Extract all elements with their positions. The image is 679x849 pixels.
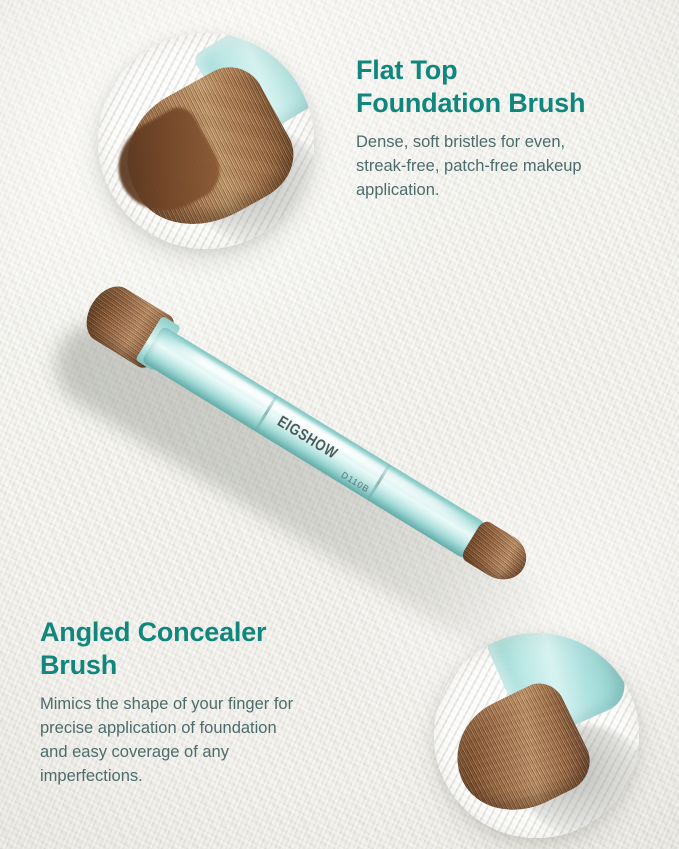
product-feature-canvas: EIGSHOW D110B Flat Top Foundation Brush … [0,0,679,849]
feature-block-flat-top: Flat Top Foundation Brush Dense, soft br… [356,54,656,203]
feature-title-flat-top: Flat Top Foundation Brush [356,54,656,120]
feature-description-angled-concealer: Mimics the shape of your finger for prec… [40,693,365,789]
feature-title-angled-concealer: Angled Concealer Brush [40,616,365,682]
feature-description-flat-top: Dense, soft bristles for even, streak-fr… [356,131,656,203]
feature-block-angled-concealer: Angled Concealer Brush Mimics the shape … [40,616,365,789]
